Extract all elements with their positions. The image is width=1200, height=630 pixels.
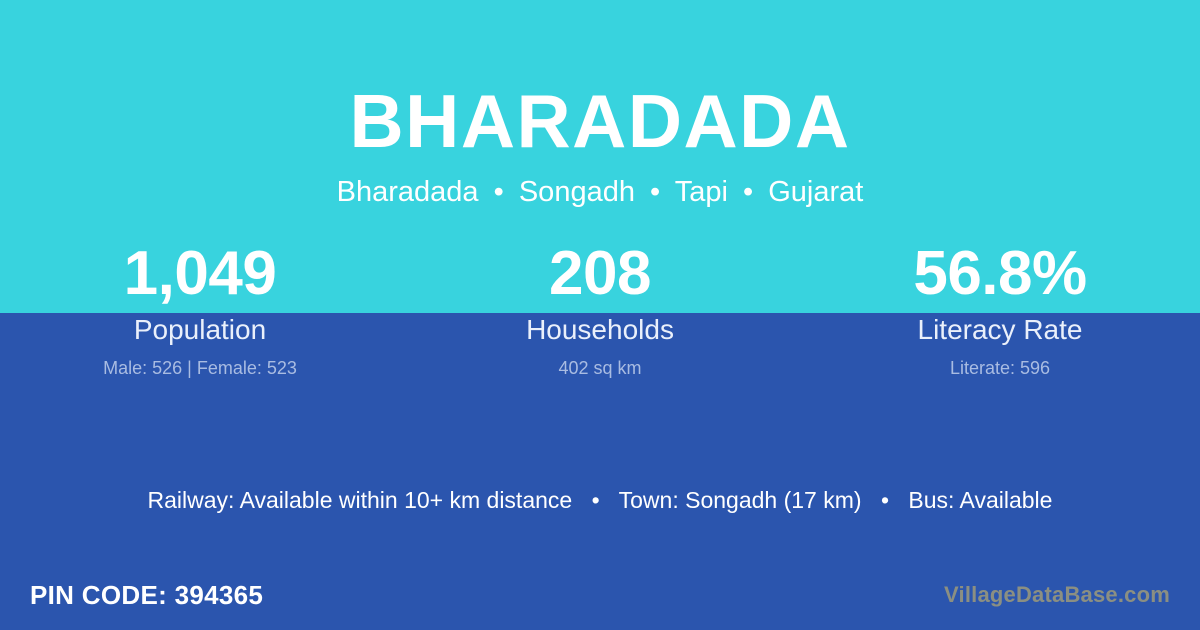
stat-sublabel: Literate: 596 xyxy=(800,357,1200,379)
card-footer: PIN CODE: 394365 VillageDataBase.com xyxy=(0,544,1200,630)
breadcrumb-separator-icon: • xyxy=(487,178,511,207)
stat-households: 208 Households 402 sq km xyxy=(400,240,800,379)
stat-value: 56.8% xyxy=(800,240,1200,308)
breadcrumb-district: Tapi xyxy=(675,176,728,208)
stat-population: 1,049 Population Male: 526 | Female: 523 xyxy=(0,240,400,379)
amenity-separator-icon: • xyxy=(579,484,613,516)
stat-literacy-rate: 56.8% Literacy Rate Literate: 596 xyxy=(800,240,1200,379)
page-title: BHARADADA xyxy=(0,0,1200,159)
stat-label: Literacy Rate xyxy=(800,314,1200,346)
stat-value: 208 xyxy=(400,240,800,308)
site-brand: VillageDataBase.com xyxy=(944,582,1170,608)
amenity-railway: Railway: Available within 10+ km distanc… xyxy=(148,487,573,513)
breadcrumb-village: Bharadada xyxy=(337,176,479,208)
card-header: BHARADADA Bharadada • Songadh • Tapi • G… xyxy=(0,0,1200,207)
amenity-town: Town: Songadh (17 km) xyxy=(619,487,862,513)
amenity-separator-icon: • xyxy=(868,484,902,516)
stat-sublabel: Male: 526 | Female: 523 xyxy=(0,357,400,379)
stat-label: Population xyxy=(0,314,400,346)
stat-value: 1,049 xyxy=(0,240,400,308)
breadcrumb-state: Gujarat xyxy=(768,176,863,208)
amenity-bus: Bus: Available xyxy=(908,487,1052,513)
breadcrumb-separator-icon: • xyxy=(643,178,667,207)
breadcrumb: Bharadada • Songadh • Tapi • Gujarat xyxy=(0,159,1200,207)
stat-label: Households xyxy=(400,314,800,346)
stats-row: 1,049 Population Male: 526 | Female: 523… xyxy=(0,240,1200,379)
amenities-line: Railway: Available within 10+ km distanc… xyxy=(0,484,1200,516)
pin-code: PIN CODE: 394365 xyxy=(30,580,263,610)
breadcrumb-separator-icon: • xyxy=(736,178,760,207)
village-info-card: BHARADADA Bharadada • Songadh • Tapi • G… xyxy=(0,0,1200,630)
stat-sublabel: 402 sq km xyxy=(400,357,800,379)
breadcrumb-block: Songadh xyxy=(519,176,635,208)
